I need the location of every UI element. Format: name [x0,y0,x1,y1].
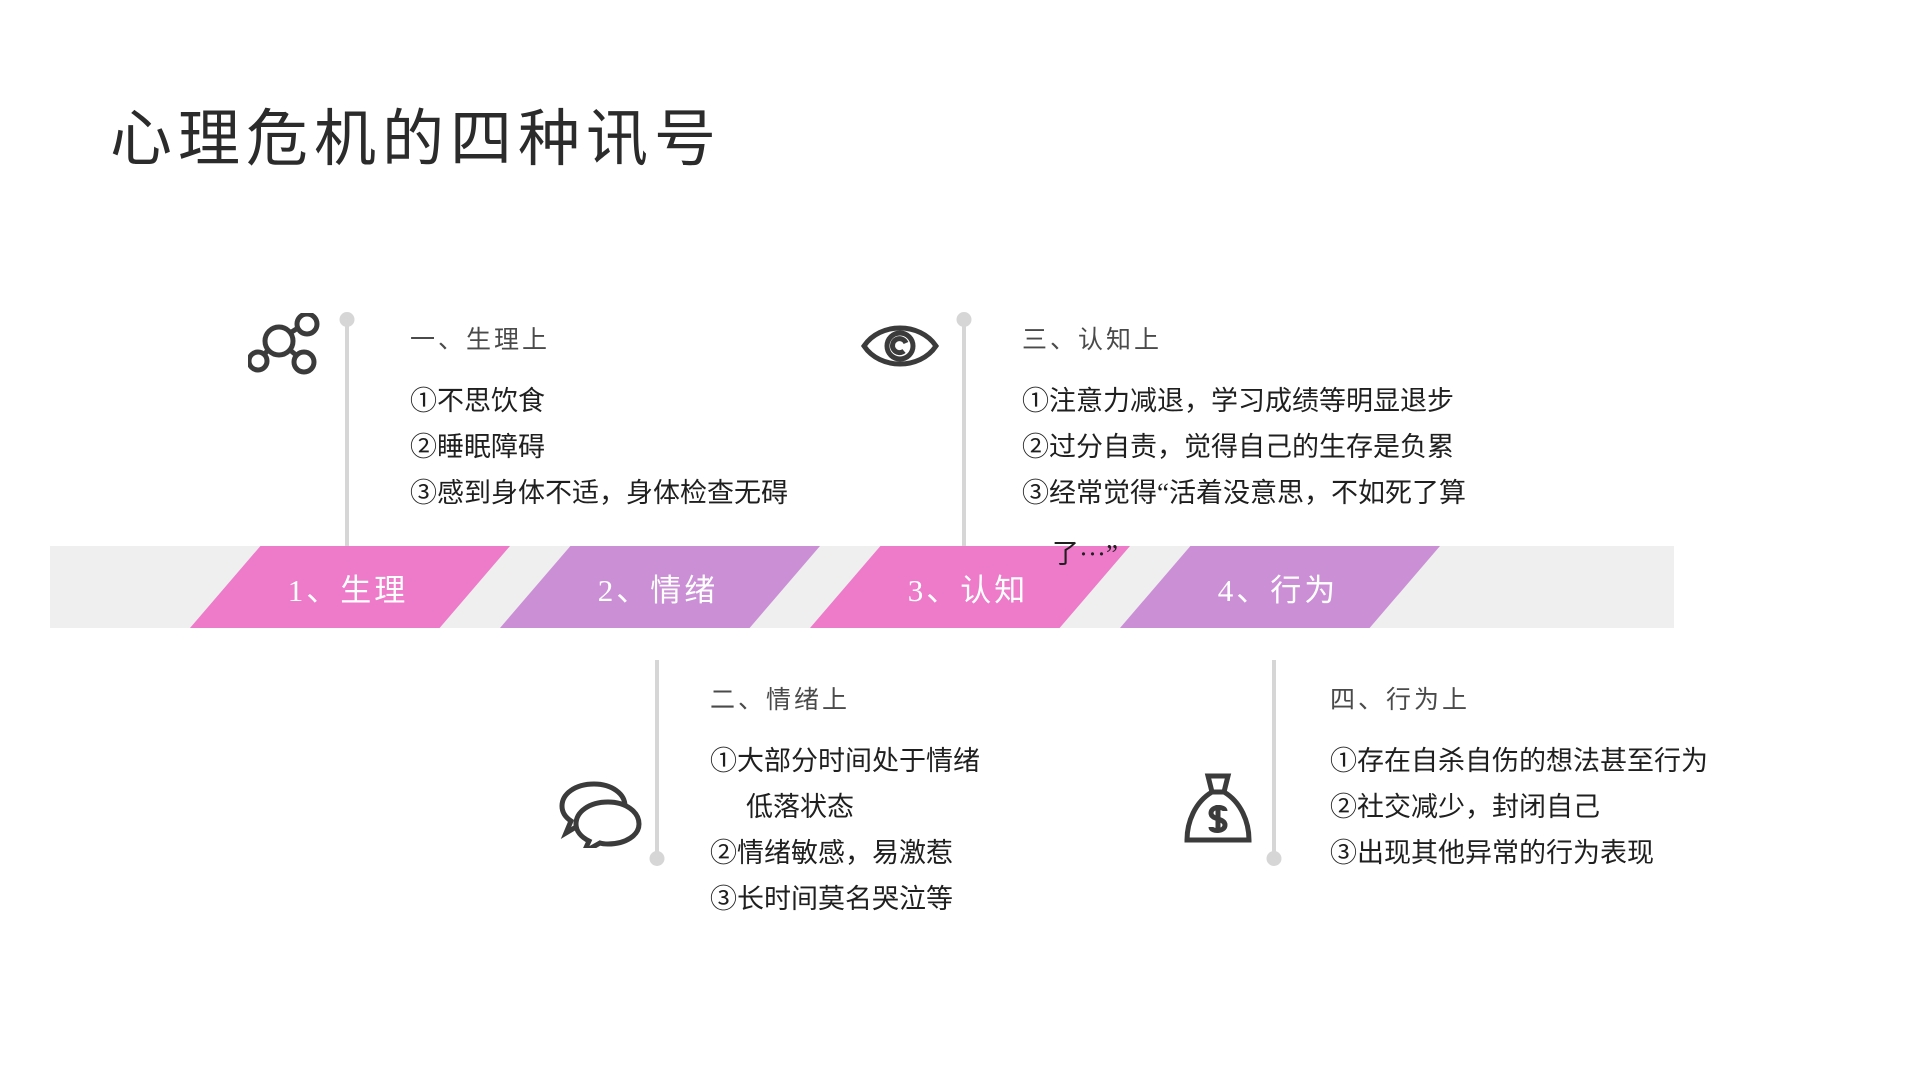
connector-line-2 [655,660,659,860]
block-line: ③感到身体不适，身体检查无碍 [410,470,788,516]
money-bag-icon [1183,772,1253,852]
block-heading: 三、认知上 [1022,320,1466,356]
block-line-overflow: 了···” [1052,532,1118,571]
info-block-physiological: 一、生理上 ①不思饮食 ②睡眠障碍 ③感到身体不适，身体检查无碍 [410,320,788,516]
block-heading: 一、生理上 [410,320,788,356]
block-line: ③出现其他异常的行为表现 [1330,830,1708,876]
block-line: ②社交减少，封闭自己 [1330,784,1708,830]
slide-canvas: 心理危机的四种讯号 一、生理上 ①不思饮食 ②睡眠障碍 ③感到身体不适，身体检查… [0,0,1920,1080]
block-line: ②睡眠障碍 [410,424,788,470]
block-line: ③长时间莫名哭泣等 [710,876,980,922]
block-line: ①不思饮食 [410,378,788,424]
block-heading: 二、情绪上 [710,680,980,716]
info-block-emotional: 二、情绪上 ①大部分时间处于情绪 低落状态 ②情绪敏感，易激惹 ③长时间莫名哭泣… [710,680,980,922]
info-block-cognitive: 三、认知上 ①注意力减退，学习成绩等明显退步 ②过分自责，觉得自己的生存是负累 … [1022,320,1466,516]
block-line: ①注意力减退，学习成绩等明显退步 [1022,378,1466,424]
connector-line-3 [962,318,966,548]
block-line: 低落状态 [710,784,980,830]
block-line: ③经常觉得“活着没意思，不如死了算 [1022,470,1466,516]
block-line: ①存在自杀自伤的想法甚至行为 [1330,738,1708,784]
banner-step-label: 1、生理 [288,565,409,610]
block-line: ①大部分时间处于情绪 [710,738,980,784]
speech-bubbles-icon [556,778,642,848]
eye-icon [860,320,940,372]
banner-step-label: 3、认知 [908,565,1029,610]
block-heading: 四、行为上 [1330,680,1708,716]
banner-step-label: 4、行为 [1218,565,1339,610]
connector-line-1 [345,318,349,548]
banner-step-2[interactable]: 2、情绪 [500,546,820,628]
info-block-behavioral: 四、行为上 ①存在自杀自伤的想法甚至行为 ②社交减少，封闭自己 ③出现其他异常的… [1330,680,1708,876]
page-title: 心理危机的四种讯号 [110,88,722,178]
molecule-icon [248,313,322,375]
block-line: ②过分自责，觉得自己的生存是负累 [1022,424,1466,470]
block-line: ②情绪敏感，易激惹 [710,830,980,876]
connector-line-4 [1272,660,1276,860]
process-banner: 1、生理 2、情绪 3、认知 4、行为 [50,546,1674,628]
banner-step-4[interactable]: 4、行为 [1120,546,1440,628]
banner-step-label: 2、情绪 [598,565,719,610]
banner-step-1[interactable]: 1、生理 [190,546,510,628]
